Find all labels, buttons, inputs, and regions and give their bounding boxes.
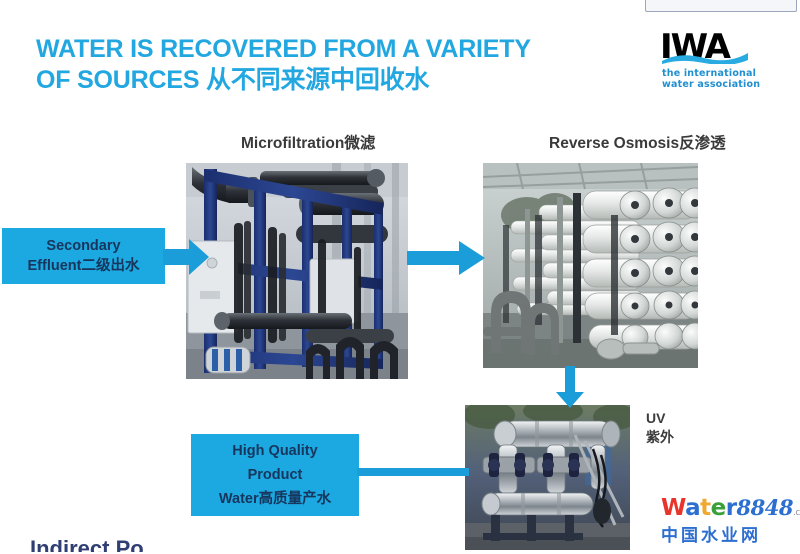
watermark-brand: Water8848.com bbox=[661, 495, 795, 526]
title-line-1: WATER IS RECOVERED FROM A VARIETY bbox=[36, 35, 531, 63]
browser-address-input[interactable] bbox=[645, 0, 797, 12]
caption-uv: UV 紫外 bbox=[646, 409, 674, 447]
title-line-2-cn: 从不同来源中回收水 bbox=[206, 66, 429, 94]
iwa-logo-mark: IWA bbox=[660, 30, 770, 68]
photo-uv bbox=[465, 405, 630, 550]
watermark-letter-t: t bbox=[700, 495, 711, 521]
watermark-letter-e: e bbox=[711, 495, 726, 521]
watermark-letter-a: a bbox=[685, 495, 700, 521]
callout-secondary-line-2: Effluent二级出水 bbox=[28, 256, 140, 276]
callout-product-line-1: High Quality bbox=[232, 439, 317, 463]
iwa-logo: IWA the international water association bbox=[660, 30, 770, 92]
callout-product-line-2: Product bbox=[248, 463, 303, 487]
callout-secondary-effluent: Secondary Effluent二级出水 bbox=[2, 228, 165, 284]
arrow-reverse-osmosis-to-uv bbox=[555, 366, 585, 408]
caption-uv-line-2: 紫外 bbox=[646, 428, 674, 447]
callout-secondary-line-1: Secondary bbox=[46, 236, 120, 256]
browser-top-strip bbox=[0, 0, 800, 18]
caption-reverse-osmosis: Reverse Osmosis反渗透 bbox=[549, 131, 726, 153]
watermark-letter-r: r bbox=[726, 495, 737, 521]
photo-microfiltration bbox=[186, 163, 408, 379]
arrow-uv-to-product-water bbox=[357, 464, 469, 480]
top-divider bbox=[0, 17, 800, 18]
slide-canvas: WATER IS RECOVERED FROM A VARIETY OF SOU… bbox=[0, 0, 800, 554]
iwa-wave-icon bbox=[662, 52, 748, 64]
iwa-subtitle-line-1: the international bbox=[662, 68, 772, 79]
iwa-subtitle-line-2: water association bbox=[662, 79, 772, 90]
watermark-water8848: Water8848.com 中国水业网 bbox=[661, 495, 795, 545]
arrow-microfiltration-to-reverse-osmosis bbox=[407, 240, 485, 276]
iwa-logo-subtitle: the international water association bbox=[662, 68, 772, 90]
photo-reverse-osmosis bbox=[483, 163, 698, 368]
watermark-letter-w: W bbox=[661, 495, 685, 521]
watermark-domain: .com bbox=[793, 508, 800, 518]
watermark-chinese: 中国水业网 bbox=[661, 526, 795, 546]
caption-uv-line-1: UV bbox=[646, 409, 674, 428]
title-line-2-en: OF SOURCES bbox=[36, 66, 206, 94]
caption-microfiltration: Microfiltration微滤 bbox=[241, 131, 375, 153]
callout-product-line-3: Water高质量产水 bbox=[219, 487, 331, 511]
arrow-secondary-to-microfiltration bbox=[163, 237, 209, 277]
callout-product-water: High Quality Product Water高质量产水 bbox=[191, 434, 359, 516]
watermark-number: 8848 bbox=[737, 495, 793, 520]
page-title: WATER IS RECOVERED FROM A VARIETY OF SOU… bbox=[36, 34, 636, 96]
